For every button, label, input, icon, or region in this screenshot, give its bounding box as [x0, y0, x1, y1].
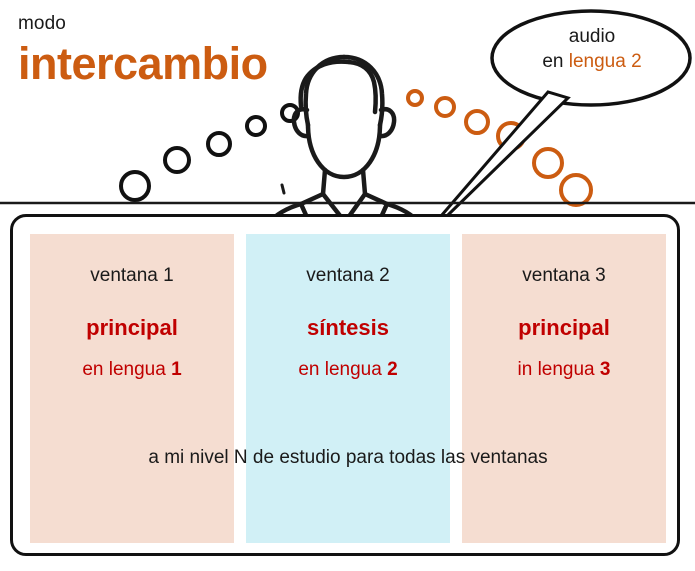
speech-bubble-text: audio en lengua 2	[512, 24, 672, 74]
black-circle-icon	[165, 148, 189, 172]
black-circle-icon	[247, 117, 265, 135]
orange-circle-icon	[436, 98, 454, 116]
window-card-3[interactable]: ventana 3 principal in lengua 3	[462, 234, 666, 543]
window-1-language-number: 1	[171, 359, 182, 380]
window-card-2[interactable]: ventana 2 síntesis en lengua 2	[246, 234, 450, 543]
speech-bubble-line-1: audio	[512, 24, 672, 49]
orange-circle-trail	[408, 91, 591, 205]
window-card-1[interactable]: ventana 1 principal en lengua 1	[30, 234, 234, 543]
window-2-language: en lengua 2	[246, 358, 450, 382]
speech-bubble-line-2-prefix: en	[542, 51, 568, 72]
page-title: intercambio	[18, 38, 348, 90]
black-circle-trail	[121, 105, 298, 200]
window-3-language-prefix: in lengua	[518, 359, 600, 380]
window-1-language: en lengua 1	[30, 358, 234, 382]
tick-mark-icon	[282, 185, 284, 193]
window-1-language-prefix: en lengua	[82, 359, 171, 380]
black-circle-icon	[208, 133, 230, 155]
orange-circle-icon	[466, 111, 488, 133]
panel-footnote: a mi nivel N de estudio para todas las v…	[13, 446, 683, 470]
window-2-role: síntesis	[246, 314, 450, 342]
page-kicker: modo	[18, 12, 348, 36]
window-1-role: principal	[30, 314, 234, 342]
orange-circle-icon	[498, 123, 524, 149]
window-2-title: ventana 2	[246, 264, 450, 288]
window-3-role: principal	[462, 314, 666, 342]
window-3-language-number: 3	[600, 359, 611, 380]
black-circle-icon	[282, 105, 298, 121]
windows-panel: ventana 1 principal en lengua 1 ventana …	[10, 214, 680, 556]
orange-circle-icon	[534, 149, 562, 177]
window-3-language: in lengua 3	[462, 358, 666, 382]
orange-circle-icon	[561, 175, 591, 205]
window-2-language-prefix: en lengua	[298, 359, 387, 380]
black-circle-icon	[121, 172, 149, 200]
header-block: modo intercambio	[18, 12, 348, 90]
window-1-title: ventana 1	[30, 264, 234, 288]
speech-bubble-line-2-accent: lengua 2	[569, 51, 642, 72]
window-2-language-number: 2	[387, 359, 398, 380]
window-3-title: ventana 3	[462, 264, 666, 288]
speech-bubble-line-2: en lengua 2	[512, 49, 672, 74]
orange-circle-icon	[408, 91, 422, 105]
windows-row: ventana 1 principal en lengua 1 ventana …	[30, 234, 666, 543]
